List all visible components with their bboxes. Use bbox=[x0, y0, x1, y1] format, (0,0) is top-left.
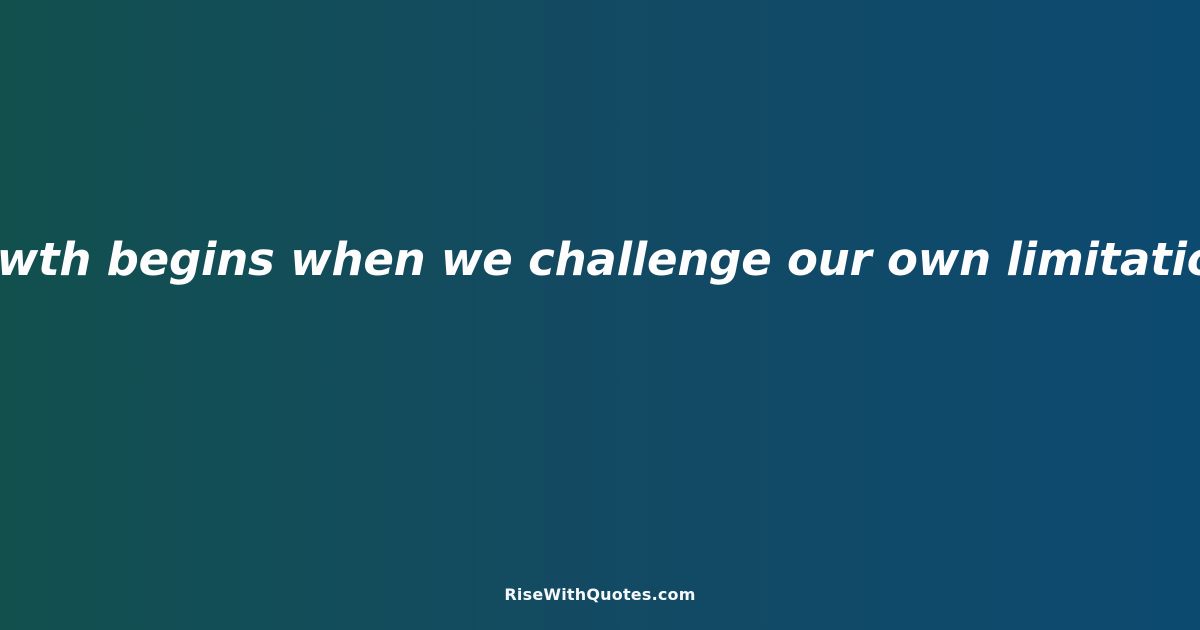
quote-card: “Growth begins when we challenge our own… bbox=[0, 0, 1200, 630]
site-credit: RiseWithQuotes.com bbox=[0, 585, 1200, 604]
quote-text: “Growth begins when we challenge our own… bbox=[0, 0, 1200, 520]
